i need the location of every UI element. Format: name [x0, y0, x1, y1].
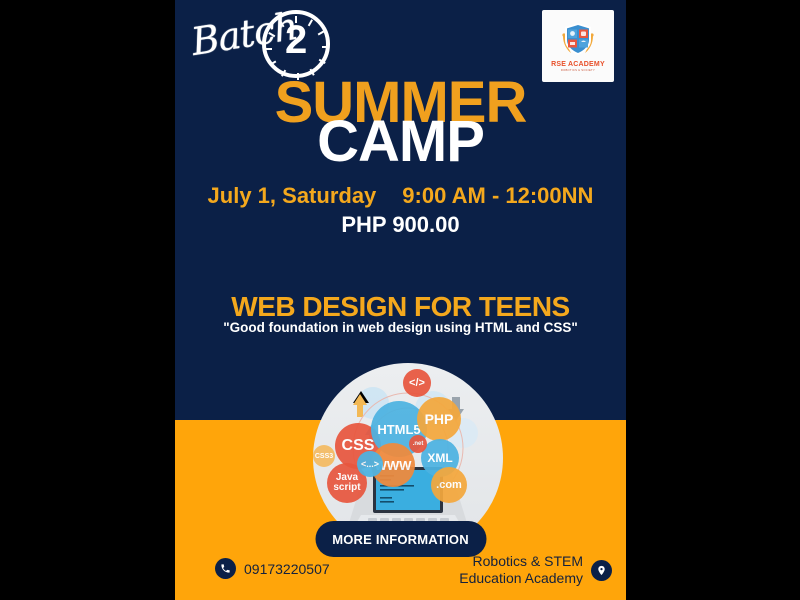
course-tagline: "Good foundation in web design using HTM…: [175, 320, 626, 335]
tech-bubble: </>: [403, 369, 431, 397]
schedule-time: 9:00 AM - 12:00NN: [402, 183, 593, 208]
clock-tick: [269, 61, 276, 66]
phone-number: 09173220507: [244, 561, 330, 577]
shield-crest-icon: [558, 20, 598, 60]
tech-bubble: CSS3: [313, 445, 335, 467]
clock-tick: [308, 19, 313, 26]
logo-tagline: ROBOTICS & SOCIETY: [561, 68, 595, 72]
summer-camp-poster: Batch 2 RSE ACADEMY ROBOTICS & SOCI: [175, 0, 626, 600]
clock-tick: [322, 46, 329, 48]
schedule-date: July 1, Saturday: [208, 183, 377, 208]
more-information-button[interactable]: MORE INFORMATION: [315, 521, 486, 557]
clock-tick: [319, 59, 326, 64]
tech-bubble: PHP: [417, 397, 461, 441]
tech-bubble: <...>: [357, 451, 383, 477]
page-title-camp: CAMP: [175, 113, 626, 171]
course-title: WEB DESIGN FOR TEENS: [175, 291, 626, 323]
price-label: PHP 900.00: [175, 212, 626, 238]
tech-bubble: .com: [431, 467, 467, 503]
tech-bubble: .net: [409, 435, 427, 453]
academy-logo: RSE ACADEMY ROBOTICS & SOCIETY: [542, 10, 614, 82]
logo-name: RSE ACADEMY: [551, 61, 605, 68]
location-pin-icon: [591, 560, 612, 581]
screenshot-canvas: Batch 2 RSE ACADEMY ROBOTICS & SOCI: [0, 0, 800, 600]
contact-phone-group[interactable]: 09173220507: [215, 558, 330, 579]
organization-group: Robotics & STEM Education Academy: [413, 553, 612, 587]
batch-number: 2: [285, 18, 307, 63]
clock-tick: [318, 30, 325, 35]
phone-icon: [215, 558, 236, 579]
organization-name: Robotics & STEM Education Academy: [413, 553, 583, 587]
schedule-row: July 1, Saturday9:00 AM - 12:00NN: [175, 183, 626, 209]
